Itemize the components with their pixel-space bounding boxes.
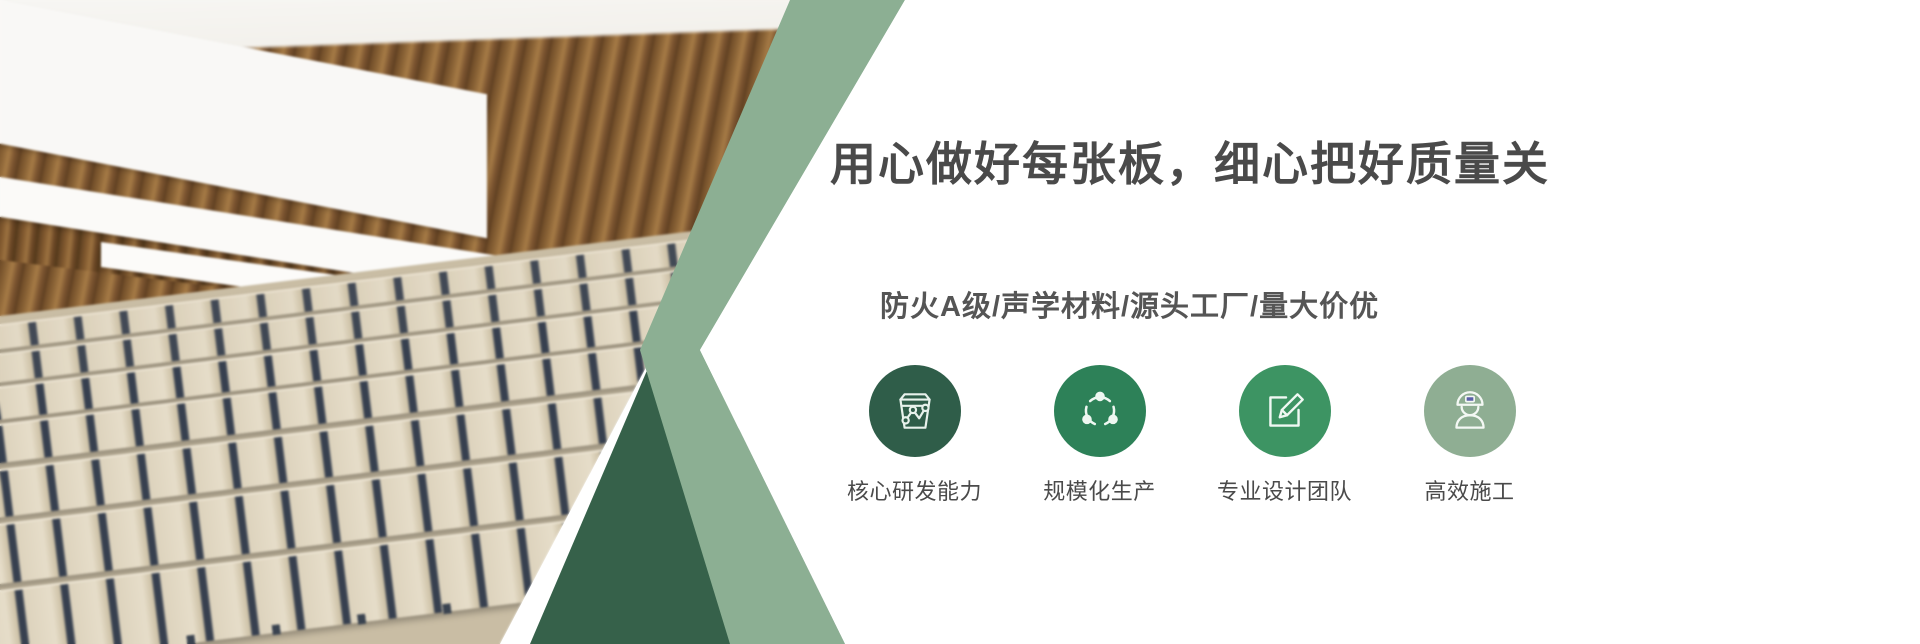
feature-label-construction: 高效施工 [1424,474,1514,506]
pencil-edit-icon [1260,386,1310,436]
microphone [617,449,626,461]
feature-circle-design [1239,365,1331,457]
network-nodes-icon [1075,386,1125,436]
photo-canvas [0,0,840,644]
feature-label-design: 专业设计团队 [1217,474,1352,506]
worker-helmet-icon [1445,386,1495,436]
hero-banner: 用心做好每张板，细心把好质量关 防火A级/声学材料/源头工厂/量大价优 [0,0,1920,644]
banner-headline: 用心做好每张板，细心把好质量关 [830,128,1550,194]
feature-circle-construction [1424,365,1516,457]
microphone [659,449,668,461]
feature-label-research: 核心研发能力 [847,474,982,506]
auditorium-photo [0,0,840,644]
feature-circle-production [1054,365,1146,457]
feature-circle-research [869,365,961,457]
feature-item-research[interactable]: 核心研发能力 [852,365,977,506]
feature-label-production: 规模化生产 [1043,474,1156,506]
banner-content: 用心做好每张板，细心把好质量关 防火A级/声学材料/源头工厂/量大价优 [830,0,1920,644]
feature-list: 核心研发能力 规模化生产 [852,365,1532,506]
feature-item-design[interactable]: 专业设计团队 [1222,365,1347,506]
feature-item-production[interactable]: 规模化生产 [1037,365,1162,506]
banner-subline: 防火A级/声学材料/源头工厂/量大价优 [880,283,1379,325]
research-box-chart-icon [890,386,940,436]
feature-item-construction[interactable]: 高效施工 [1407,365,1532,506]
